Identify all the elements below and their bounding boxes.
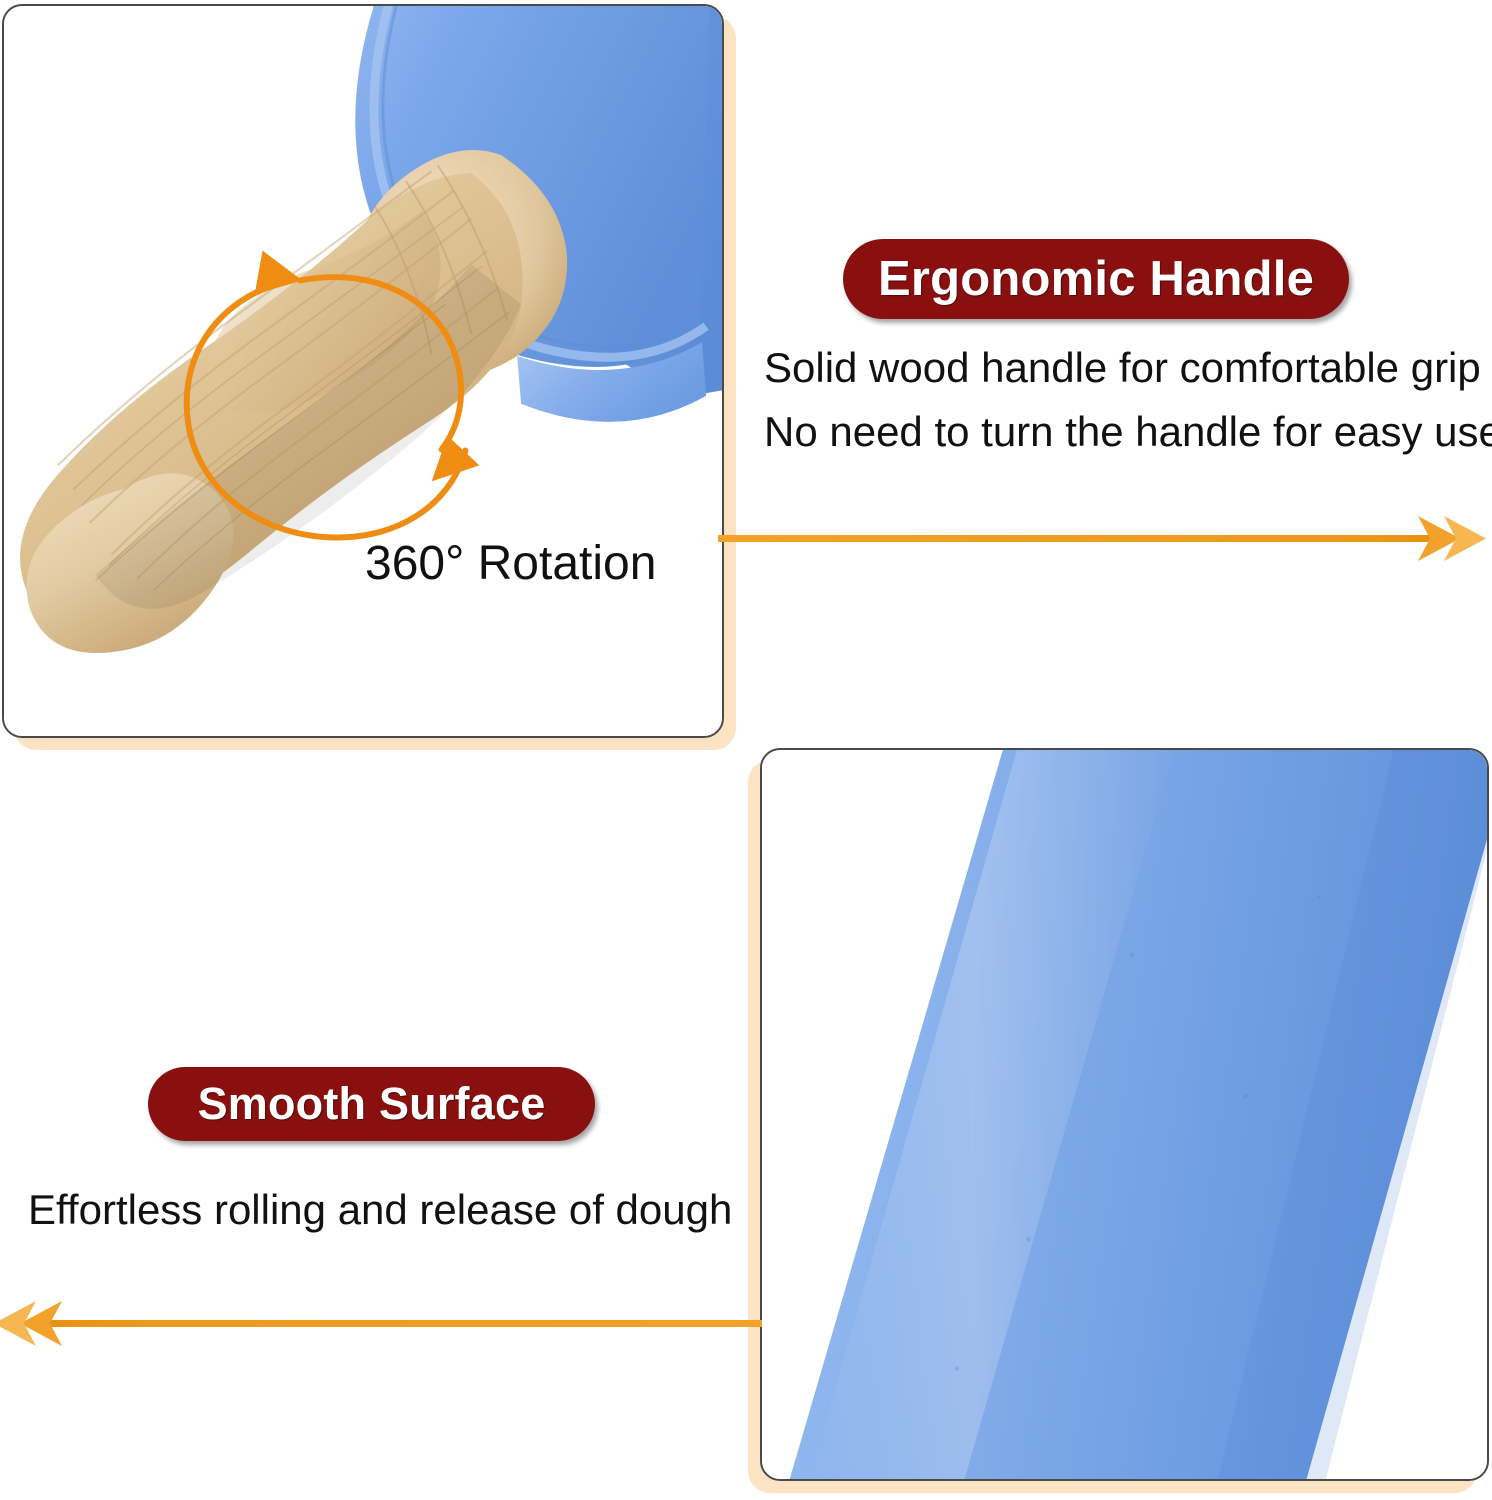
feature-description-line-ergonomic-2: No need to turn the handle for easy use (764, 408, 1492, 456)
double-chevron-left-arrow-icon (0, 1293, 762, 1355)
feature-badge-ergonomic-handle: Ergonomic Handle (843, 239, 1349, 319)
rotation-caption: 360° Rotation (365, 536, 656, 591)
feature-panel-ergonomic-handle (2, 4, 724, 738)
feature-badge-smooth-surface: Smooth Surface (148, 1067, 595, 1141)
double-chevron-right-arrow-icon (718, 508, 1492, 570)
feature-panel-smooth-surface (760, 748, 1489, 1481)
rolling-pin-wooden-handle-closeup-image (4, 6, 722, 736)
feature-description-line-smooth-1: Effortless rolling and release of dough (28, 1186, 732, 1234)
blue-silicone-roller-surface-closeup-image (762, 750, 1487, 1479)
feature-description-line-ergonomic-1: Solid wood handle for comfortable grip (764, 344, 1481, 392)
